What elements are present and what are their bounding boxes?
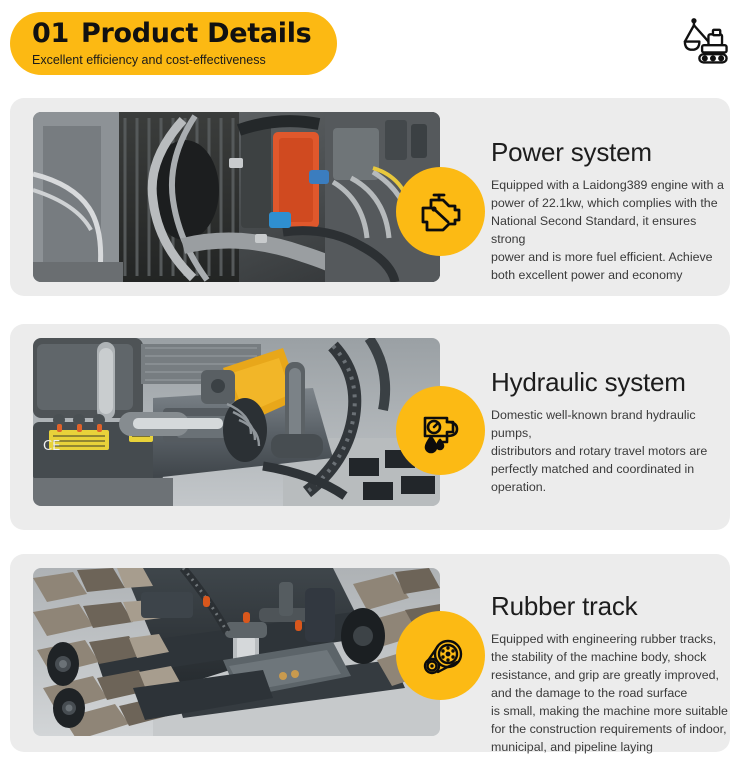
section-badge: 01Product Details Excellent efficiency a…	[10, 12, 337, 75]
feature-text-hydraulic-system: Hydraulic system Domestic well-known bra…	[491, 366, 731, 496]
excavator-icon	[674, 18, 732, 68]
feature-text-rubber-track: Rubber track Equipped with engineering r…	[491, 590, 731, 756]
feature-description: Domestic well-known brand hydraulic pump…	[491, 406, 731, 496]
feature-photo-rubber-track	[33, 568, 440, 736]
section-title-text: Product Details	[81, 18, 311, 49]
feature-title: Rubber track	[491, 590, 731, 622]
feature-description: Equipped with a Laidong389 engine with a…	[491, 176, 731, 284]
feature-description: Equipped with engineering rubber tracks,…	[491, 630, 731, 756]
feature-card-hydraulic-system: CE Hydraulic system Domestic well-known …	[10, 324, 730, 530]
feature-card-power-system: Power system Equipped with a Laidong389 …	[10, 98, 730, 296]
section-subtitle: Excellent efficiency and cost-effectiven…	[32, 52, 337, 68]
feature-text-power-system: Power system Equipped with a Laidong389 …	[491, 136, 731, 284]
page-title: 01Product Details	[32, 18, 337, 50]
feature-card-rubber-track: Rubber track Equipped with engineering r…	[10, 554, 730, 752]
feature-photo-hydraulic: CE	[33, 338, 440, 506]
engine-icon	[396, 167, 485, 256]
track-drive-icon	[396, 611, 485, 700]
feature-photo-engine	[33, 112, 440, 282]
hydraulic-pump-icon	[396, 386, 485, 475]
section-number: 01	[32, 18, 69, 49]
feature-title: Power system	[491, 136, 731, 168]
svg-text:CE: CE	[43, 439, 60, 454]
feature-title: Hydraulic system	[491, 366, 731, 398]
page-header: 01Product Details Excellent efficiency a…	[0, 0, 750, 95]
